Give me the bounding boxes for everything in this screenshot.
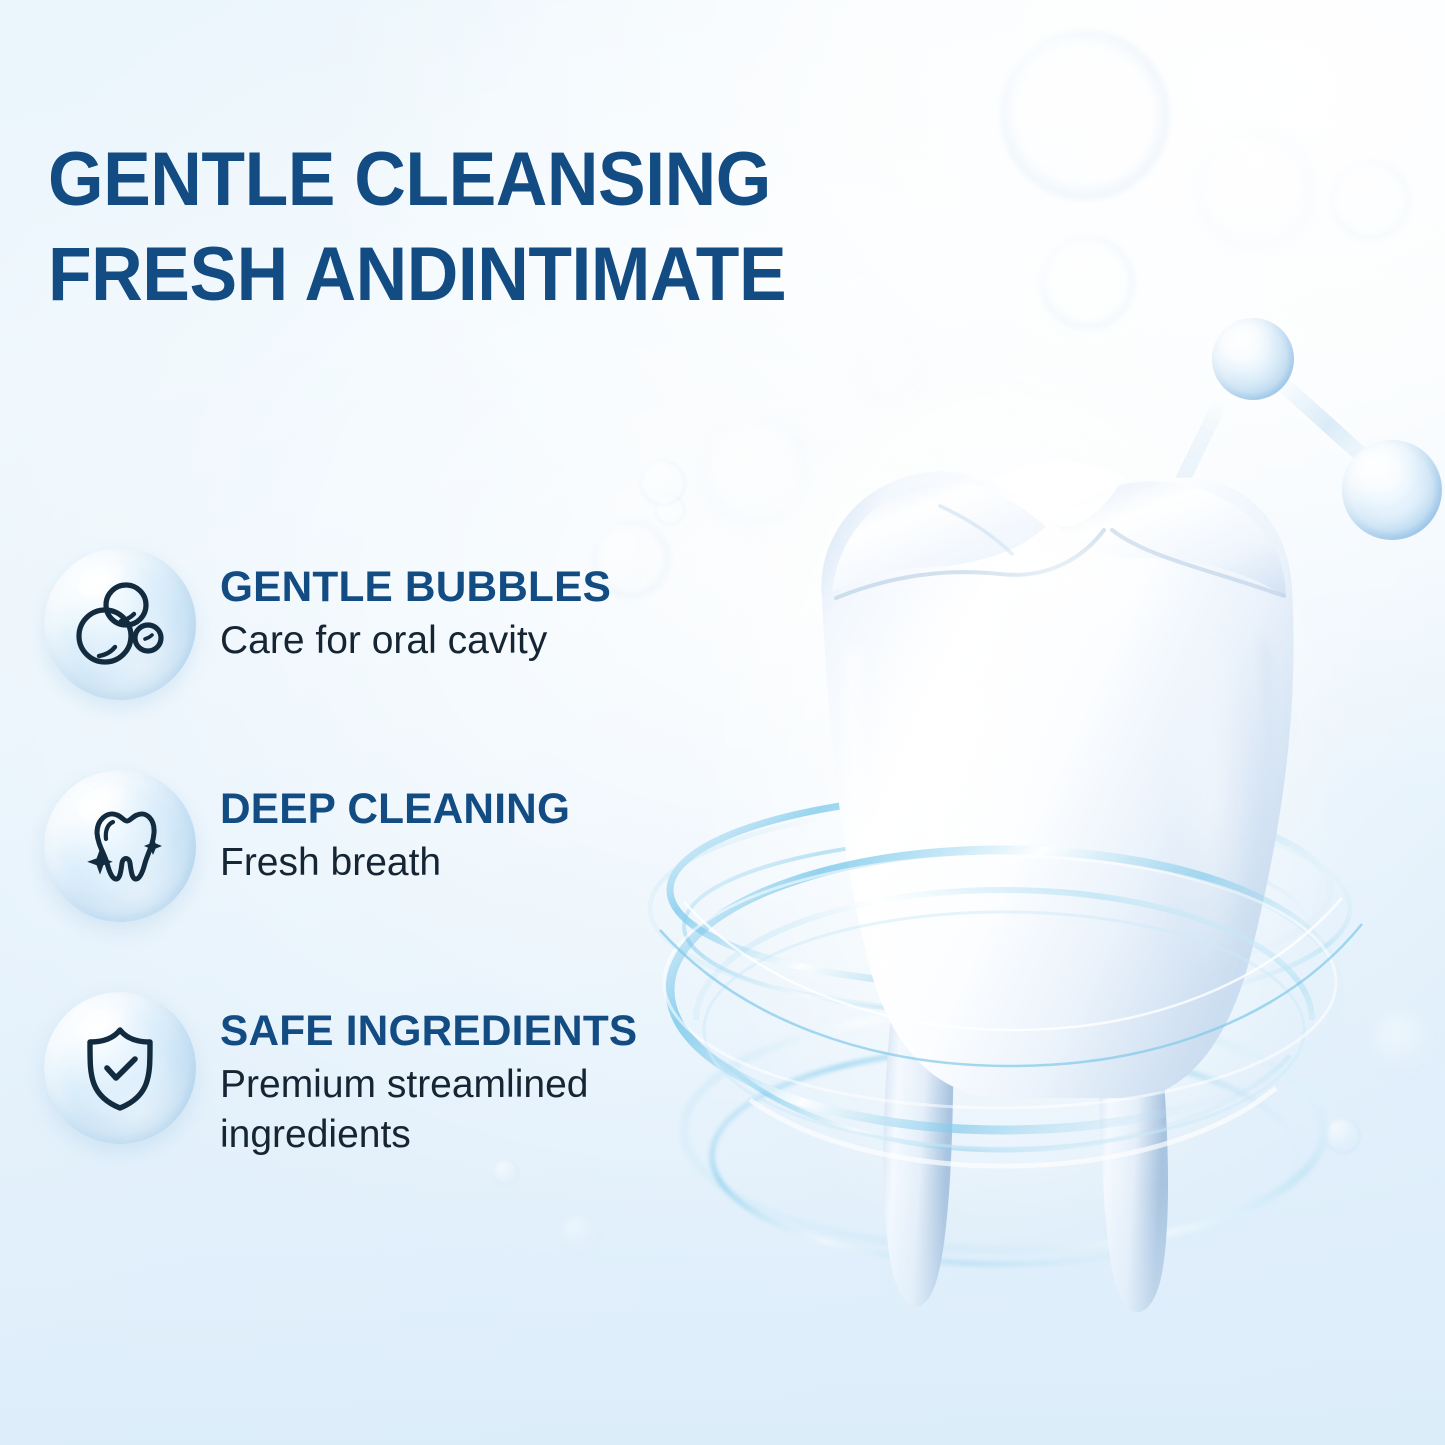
feature-subtitle: Fresh breath: [220, 838, 640, 888]
feature-title: GENTLE BUBBLES: [220, 562, 732, 612]
feature-text: DEEP CLEANING Fresh breath: [220, 784, 740, 888]
feature-item-gentle-bubbles: GENTLE BUBBLES Care for oral cavity: [44, 548, 744, 698]
molecule-rod: [1271, 372, 1386, 478]
molecule-rod: [1127, 389, 1233, 584]
feature-text: GENTLE BUBBLES Care for oral cavity: [220, 562, 740, 666]
background-bubble: [1330, 160, 1410, 240]
background-bubble: [1040, 235, 1135, 330]
product-feature-poster: GENTLE CLEANSING FRESH ANDINTIMATE: [0, 0, 1445, 1445]
background-bubble: [1240, 700, 1298, 758]
background-bubble: [1195, 130, 1315, 250]
molecule-sphere-right: [1342, 440, 1442, 540]
feature-subtitle: Care for oral cavity: [220, 616, 640, 666]
feature-item-deep-cleaning: DEEP CLEANING Fresh breath: [44, 770, 744, 920]
feature-title: DEEP CLEANING: [220, 784, 732, 834]
headline-line-2: FRESH ANDINTIMATE: [48, 227, 932, 322]
page-title: GENTLE CLEANSING FRESH ANDINTIMATE: [48, 132, 932, 322]
feature-title: SAFE INGREDIENTS: [220, 1006, 732, 1056]
headline-line-1: GENTLE CLEANSING: [48, 132, 932, 227]
background-bubble: [700, 415, 810, 525]
feature-subtitle: Premium streamlined ingredients: [220, 1060, 640, 1160]
background-bubble: [560, 1215, 600, 1255]
background-bubble: [640, 460, 686, 506]
background-bubble: [860, 340, 924, 404]
background-bubble: [1370, 1010, 1440, 1080]
bubbles-icon: [44, 548, 196, 700]
molecule-sphere-top: [1212, 318, 1294, 400]
bottom-gradient-overlay: [0, 1185, 1445, 1445]
background-bubble: [1000, 30, 1170, 200]
feature-text: SAFE INGREDIENTS Premium streamlined ing…: [220, 1006, 740, 1160]
molecule-graphic: [1140, 300, 1445, 600]
feature-item-safe-ingredients: SAFE INGREDIENTS Premium streamlined ing…: [44, 992, 744, 1142]
background-bubble: [1325, 1118, 1361, 1154]
tooth-sparkle-icon: [44, 770, 196, 922]
shield-check-icon: [44, 992, 196, 1144]
background-bubble: [493, 1160, 519, 1186]
background-bubble: [655, 495, 685, 525]
tooth-glow: [660, 370, 1360, 1270]
feature-list: GENTLE BUBBLES Care for oral cavity: [44, 548, 744, 1142]
